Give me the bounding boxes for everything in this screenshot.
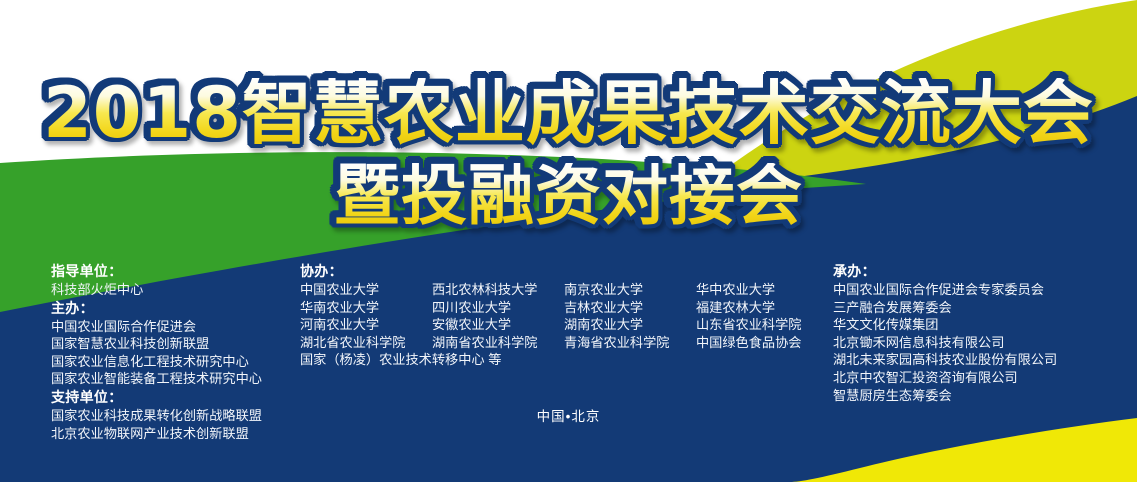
coorganizer-grid: 中国农业大学 西北农林科技大学 南京农业大学 华中农业大学 华南农业大学 四川农…: [300, 281, 828, 369]
coorganizer-item: 山东省农业科学院: [696, 316, 828, 334]
organizer-heading: 主办：: [51, 299, 301, 318]
guidance-heading: 指导单位：: [51, 262, 301, 281]
organizer-item: 国家农业智能装备工程技术研究中心: [51, 370, 301, 388]
event-location: 中国•北京: [0, 405, 1137, 425]
organizer-item: 国家智慧农业科技创新联盟: [51, 335, 301, 353]
coorganizer-heading: 协办：: [300, 262, 828, 281]
host-item: 三产融合发展筹委会: [833, 299, 1103, 317]
coorganizer-item: 中国绿色食品协会: [696, 334, 828, 352]
host-item: 中国农业国际合作促进会专家委员会: [833, 281, 1103, 299]
host-heading: 承办：: [833, 262, 1103, 281]
coorganizer-item: 四川农业大学: [432, 299, 564, 317]
coorganizer-last-line: 国家（杨凌）农业技术转移中心 等: [300, 351, 696, 369]
organizer-item: 中国农业国际合作促进会: [51, 318, 301, 336]
coorganizer-item: 湖南省农业科学院: [432, 334, 564, 352]
host-item: 北京锄禾网信息科技有限公司: [833, 334, 1103, 352]
organizer-item: 国家农业信息化工程技术研究中心: [51, 353, 301, 371]
coorganizer-item: 华中农业大学: [696, 281, 828, 299]
coorganizer-item: 青海省农业科学院: [564, 334, 696, 352]
coorganizer-item: 南京农业大学: [564, 281, 696, 299]
host-item: 北京中农智汇投资咨询有限公司: [833, 369, 1103, 387]
column-coorganizers: 协办： 中国农业大学 西北农林科技大学 南京农业大学 华中农业大学 华南农业大学…: [300, 262, 828, 369]
conference-banner: 2018智慧农业成果技术交流大会 暨投融资对接会 指导单位： 科技部火炬中心 主…: [0, 0, 1137, 482]
coorganizer-item: 西北农林科技大学: [432, 281, 564, 299]
coorganizer-item: 河南农业大学: [300, 316, 432, 334]
coorganizer-item: 湖北省农业科学院: [300, 334, 432, 352]
coorganizer-item: 华南农业大学: [300, 299, 432, 317]
coorganizer-item: 湖南农业大学: [564, 316, 696, 334]
column-hosts: 承办： 中国农业国际合作促进会专家委员会 三产融合发展筹委会 华文文化传媒集团 …: [833, 262, 1103, 404]
support-item: 北京农业物联网产业技术创新联盟: [51, 425, 301, 443]
host-item: 智慧厨房生态筹委会: [833, 387, 1103, 405]
host-item: 湖北未来家园高科技农业股份有限公司: [833, 351, 1103, 369]
host-item: 华文文化传媒集团: [833, 316, 1103, 334]
coorganizer-item: 中国农业大学: [300, 281, 432, 299]
coorganizer-item: 吉林农业大学: [564, 299, 696, 317]
coorganizer-item: 福建农林大学: [696, 299, 828, 317]
guidance-item: 科技部火炬中心: [51, 281, 301, 299]
coorganizer-item: 安徽农业大学: [432, 316, 564, 334]
